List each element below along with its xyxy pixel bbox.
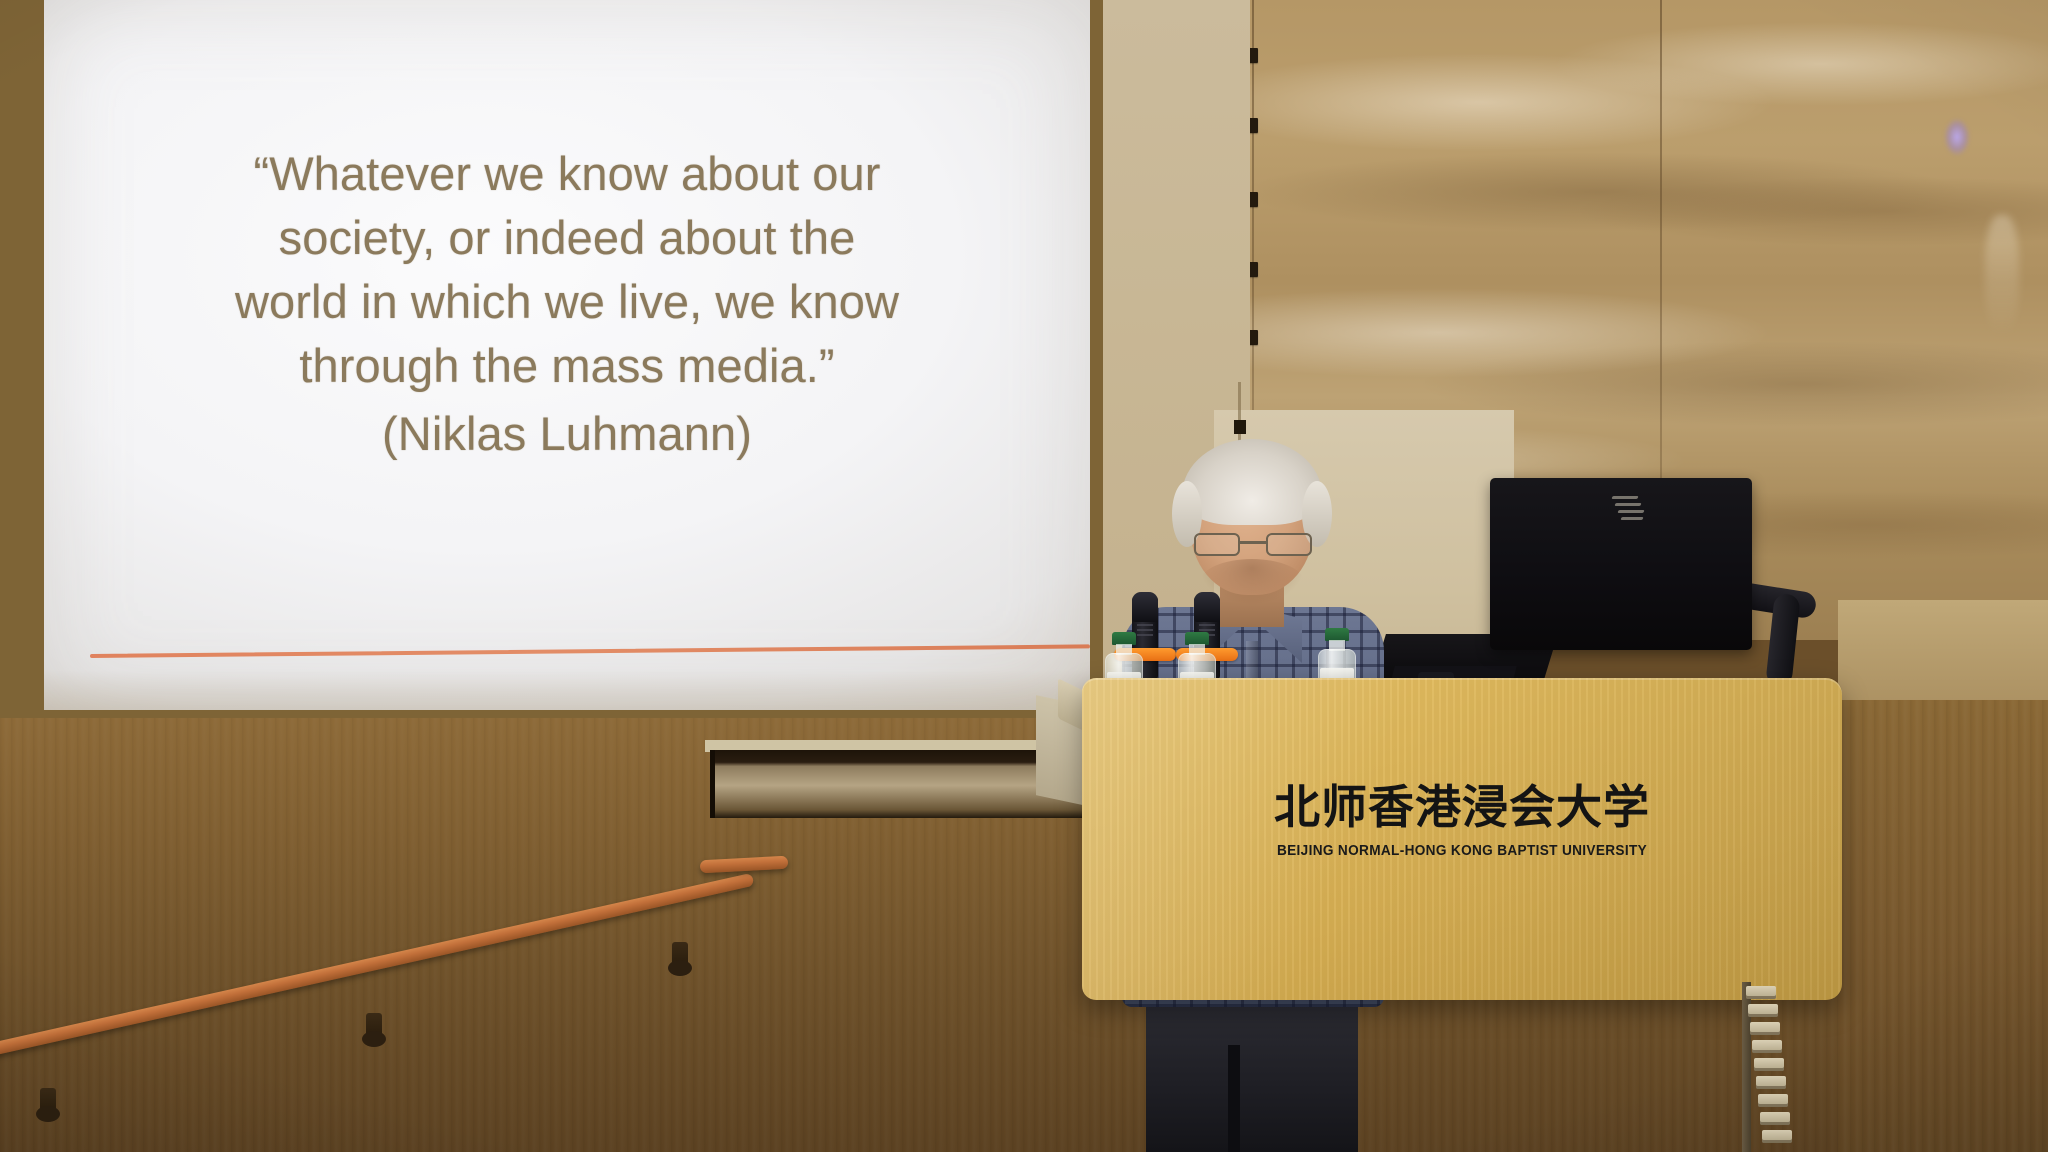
podium-front-panel: 北师香港浸会大学 BEIJING NORMAL-HONG KONG BAPTIS… <box>1082 678 1842 1000</box>
glasses-lens-left <box>1194 533 1240 556</box>
glasses-lens-right <box>1266 533 1312 556</box>
eyeglasses-icon <box>1194 533 1312 559</box>
spine-link <box>1746 986 1776 999</box>
hp-monitor[interactable] <box>1490 478 1752 650</box>
lecture-hall-photo: “Whatever we know about our society, or … <box>0 0 2048 1152</box>
mic-head <box>1194 592 1220 622</box>
quote-attribution: (Niklas Luhmann) <box>174 402 960 466</box>
handrail-bracket <box>40 1088 56 1120</box>
hp-logo-icon <box>1612 494 1646 522</box>
spine-link <box>1762 1130 1792 1143</box>
panel-clip-icon <box>1234 420 1246 434</box>
cable-management-spine <box>1742 982 1788 1152</box>
spine-link <box>1760 1112 1790 1125</box>
university-name-english: BEIJING NORMAL-HONG KONG BAPTIST UNIVERS… <box>1105 843 1819 859</box>
projection-screen-frame: “Whatever we know about our society, or … <box>0 0 1103 718</box>
right-wood-paneling <box>1838 700 2048 1152</box>
spine-link <box>1758 1094 1788 1107</box>
spine-link <box>1748 1004 1778 1017</box>
spine-link <box>1754 1058 1784 1071</box>
mic-head <box>1132 592 1158 622</box>
handrail-bracket <box>366 1013 382 1045</box>
presenter-hair <box>1182 439 1322 525</box>
quote-line-2: society, or indeed about the <box>279 211 856 264</box>
presenter-legs <box>1146 997 1358 1152</box>
university-name-chinese: 北师香港浸会大学 <box>1082 784 1842 830</box>
light-reflection-icon <box>1944 118 1970 156</box>
glasses-bridge <box>1240 541 1266 544</box>
spine-link <box>1750 1022 1780 1035</box>
wall-light-streak <box>1985 215 2019 335</box>
spine-link <box>1752 1040 1782 1053</box>
spine-link <box>1756 1076 1786 1089</box>
university-logo: 北师香港浸会大学 BEIJING NORMAL-HONG KONG BAPTIS… <box>1082 784 1842 859</box>
quote-line-3: world in which we live, we know <box>235 275 899 328</box>
slide-accent-line <box>90 644 1090 658</box>
mic-grille <box>1137 624 1153 636</box>
quote-line-4: through the mass media.” <box>299 339 834 392</box>
quote-line-1: “Whatever we know about our <box>253 147 880 200</box>
projection-screen: “Whatever we know about our society, or … <box>44 0 1090 710</box>
screen-lower-shading <box>44 670 1090 710</box>
handrail-bracket <box>672 942 688 974</box>
presenter-leg-gap <box>1228 1045 1240 1152</box>
slide-quote-text: “Whatever we know about our society, or … <box>44 142 1090 466</box>
